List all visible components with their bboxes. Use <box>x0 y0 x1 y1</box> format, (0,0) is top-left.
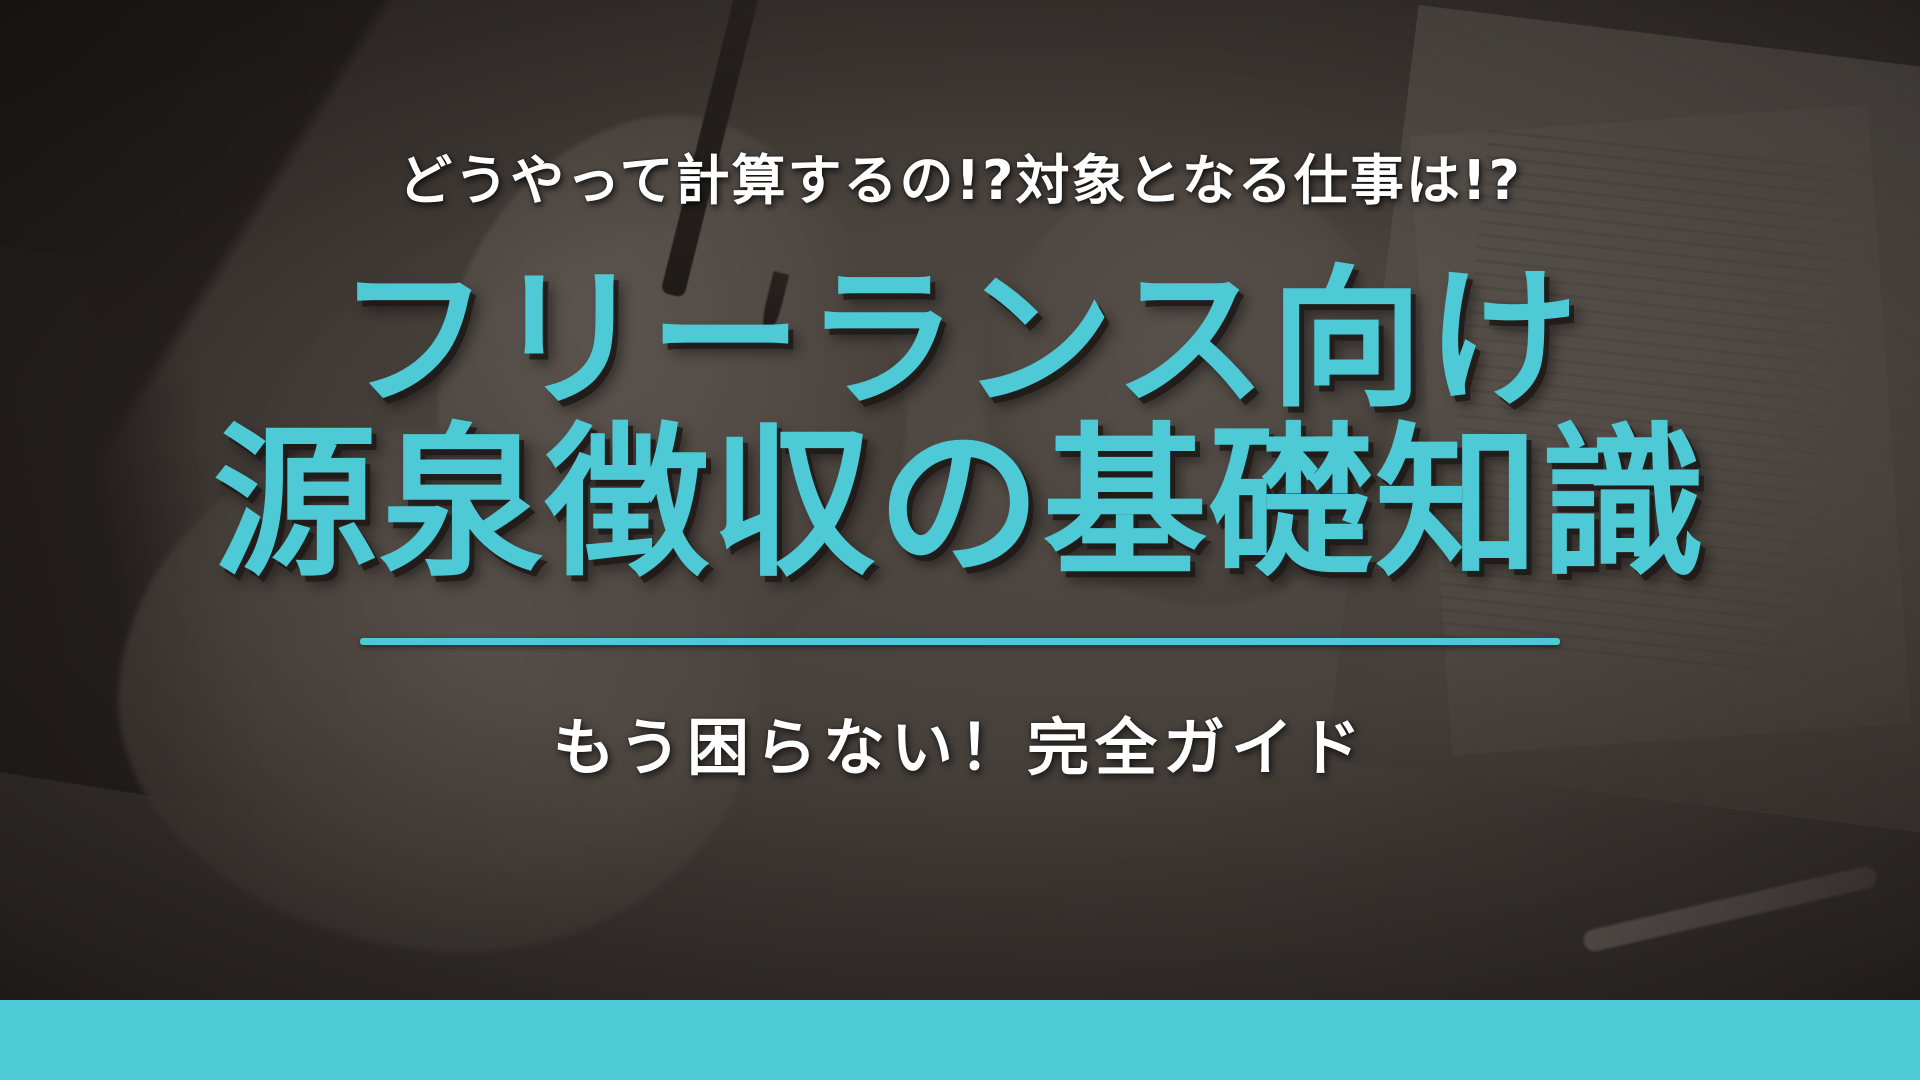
title-line-1: フリーランス向け <box>213 261 1707 419</box>
banner-root: どうやって計算するの!?対象となる仕事は!? フリーランス向け 源泉徴収の基礎知… <box>0 0 1920 1080</box>
title-line-2: 源泉徴収の基礎知識 <box>213 419 1707 590</box>
title-divider <box>360 638 1560 645</box>
page-title: フリーランス向け 源泉徴収の基礎知識 <box>213 261 1707 590</box>
banner-content: どうやって計算するの!?対象となる仕事は!? フリーランス向け 源泉徴収の基礎知… <box>0 0 1920 1080</box>
kicker-text: どうやって計算するの!?対象となる仕事は!? <box>398 136 1522 215</box>
tagline-text: もう困らない！完全ガイド <box>553 697 1367 787</box>
bottom-accent-bar <box>0 1000 1920 1080</box>
